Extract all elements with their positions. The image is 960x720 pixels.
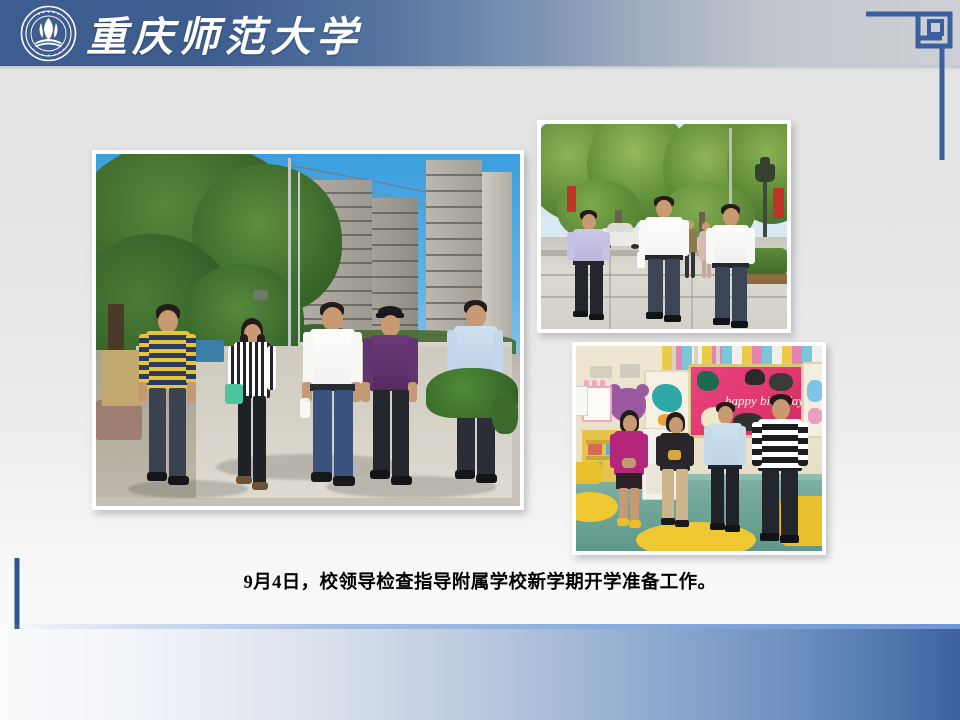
photo-classroom[interactable]: happy birthday [572,342,826,555]
header-shadow [0,66,960,70]
person-figure [304,302,360,494]
university-logo-icon [20,5,77,62]
photo-walk-plaza[interactable] [537,120,791,333]
person-figure [706,402,744,536]
person-figure [641,196,687,322]
person-figure [228,318,276,494]
person-figure [612,410,646,530]
photo-walk-path[interactable] [92,150,524,510]
person-figure [364,306,416,492]
person-figure [569,210,609,320]
slide-caption: 9月4日，校领导检查指导附属学校新学期开学准备工作。 [0,568,960,594]
university-name-title: 重庆师范大学 [86,6,362,60]
footer-banner [0,629,960,720]
person-figure [709,204,753,326]
decorative-corner-top-right-icon [850,0,960,160]
photo-walk-path-canvas [96,154,520,506]
person-figure [756,394,804,544]
presentation-slide: 重庆师范大学 [0,0,960,720]
photo-classroom-canvas: happy birthday [576,346,822,551]
photo-walk-plaza-canvas [541,124,787,329]
person-figure [138,304,196,494]
person-figure [658,412,692,532]
